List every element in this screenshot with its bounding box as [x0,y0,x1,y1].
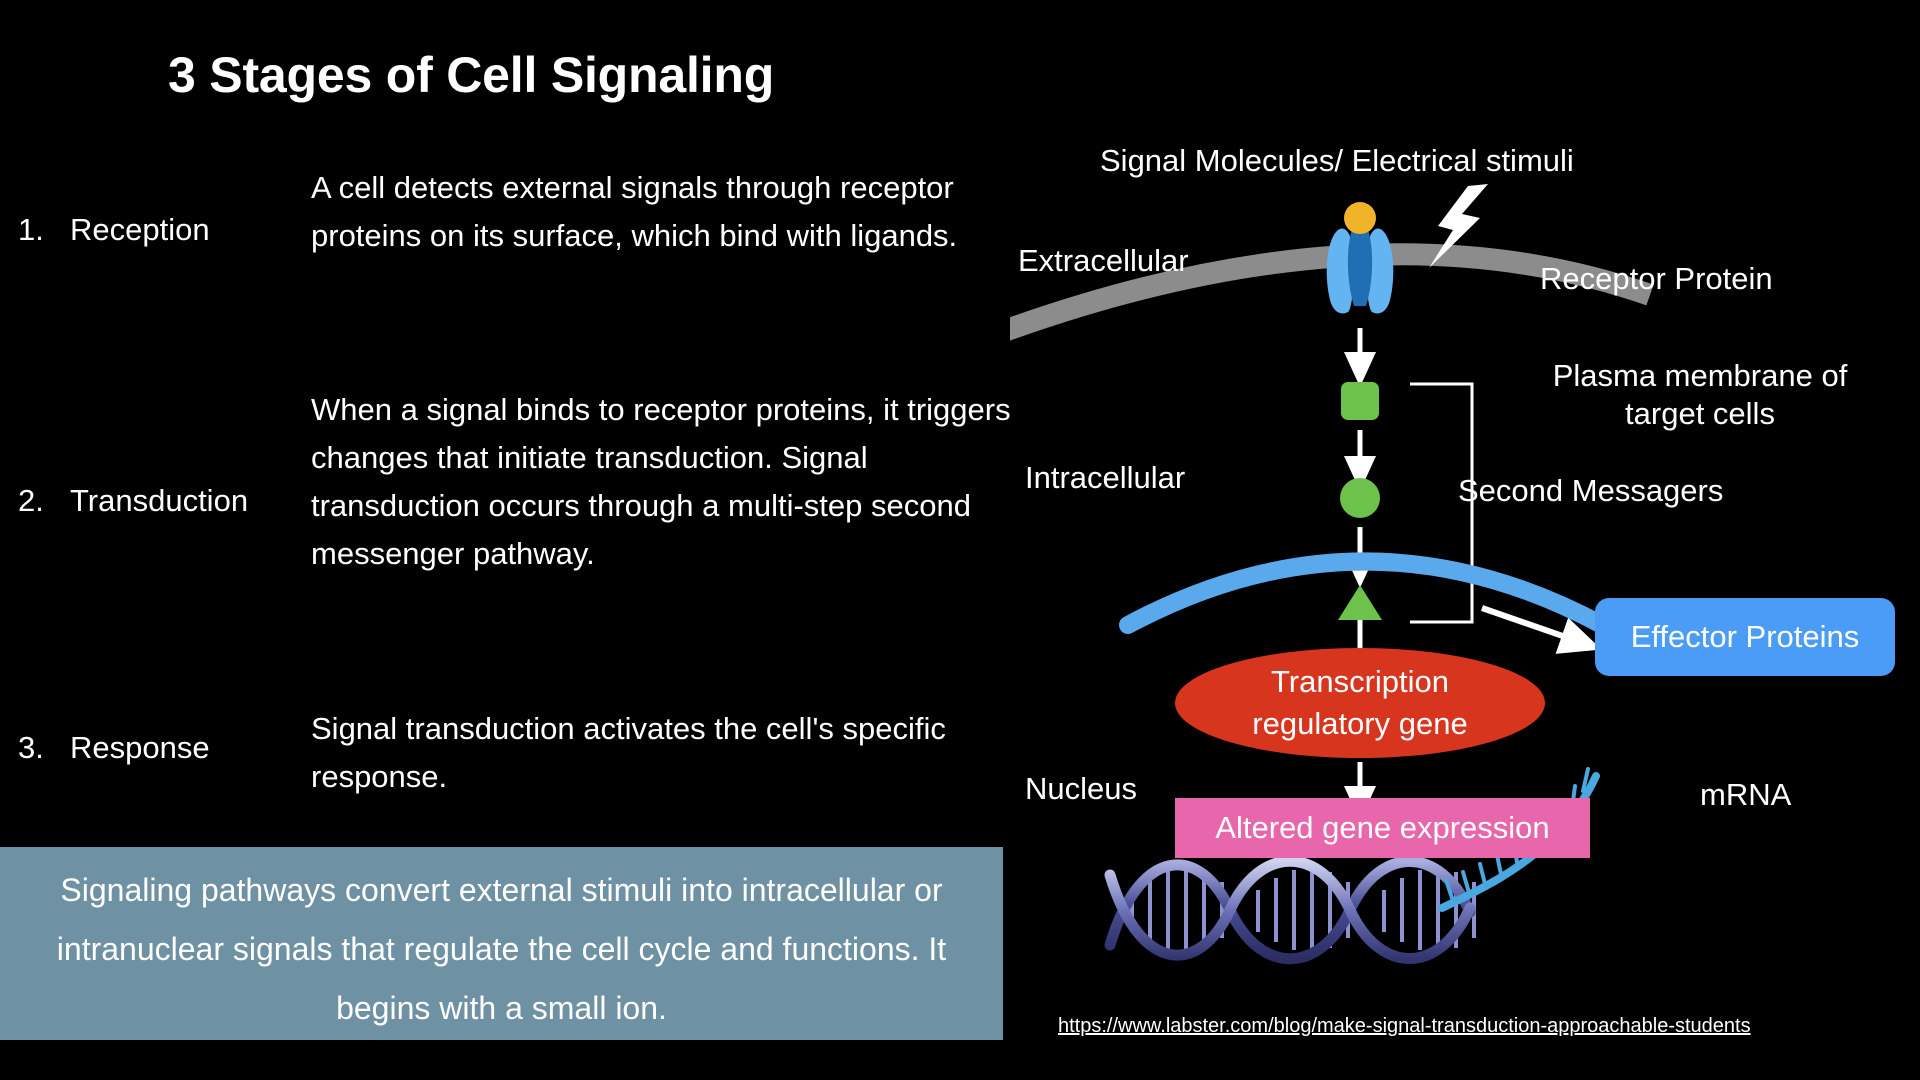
label-plasma-membrane: Plasma membrane of target cells [1540,357,1860,433]
stage-3-description: Signal transduction activates the cell's… [311,705,1011,801]
source-url-link[interactable]: https://www.labster.com/blog/make-signal… [1058,1015,1751,1038]
label-intracellular: Intracellular [1025,459,1185,497]
summary-caption: Signaling pathways convert external stim… [0,847,1003,1040]
ligand-molecule [1344,202,1376,234]
stage-2-name: Transduction [70,483,248,519]
page-title: 3 Stages of Cell Signaling [168,46,774,104]
second-messenger-square [1341,382,1379,420]
effector-proteins-box: Effector Proteins [1595,598,1895,676]
label-nucleus: Nucleus [1025,770,1137,808]
stage-3-number: 3. [18,730,44,766]
stage-2-number: 2. [18,483,44,519]
stage-1-name: Reception [70,212,210,248]
stage-1-number: 1. [18,212,44,248]
second-messenger-circle [1340,478,1380,518]
label-receptor-protein: Receptor Protein [1540,260,1773,298]
label-extracellular: Extracellular [1018,242,1189,280]
stage-3-name: Response [70,730,210,766]
second-messenger-triangle [1338,585,1382,620]
slide-canvas: 3 Stages of Cell Signaling 1. Reception … [0,0,1920,1080]
stage-1-description: A cell detects external signals through … [311,164,1011,260]
altered-gene-expression-box: Altered gene expression [1175,798,1590,858]
dna-helix-illustration [1110,861,1474,959]
receptor-protein-shape [1327,202,1394,314]
gene-line-2: regulatory gene [1252,703,1467,745]
stage-2-description: When a signal binds to receptor proteins… [311,386,1011,578]
label-signal-molecules: Signal Molecules/ Electrical stimuli [1100,142,1574,180]
gene-line-1: Transcription [1271,661,1449,703]
label-second-messengers: Second Messagers [1458,472,1723,510]
label-mrna: mRNA [1700,776,1791,814]
transcription-regulatory-gene-ellipse: Transcription regulatory gene [1175,648,1545,758]
